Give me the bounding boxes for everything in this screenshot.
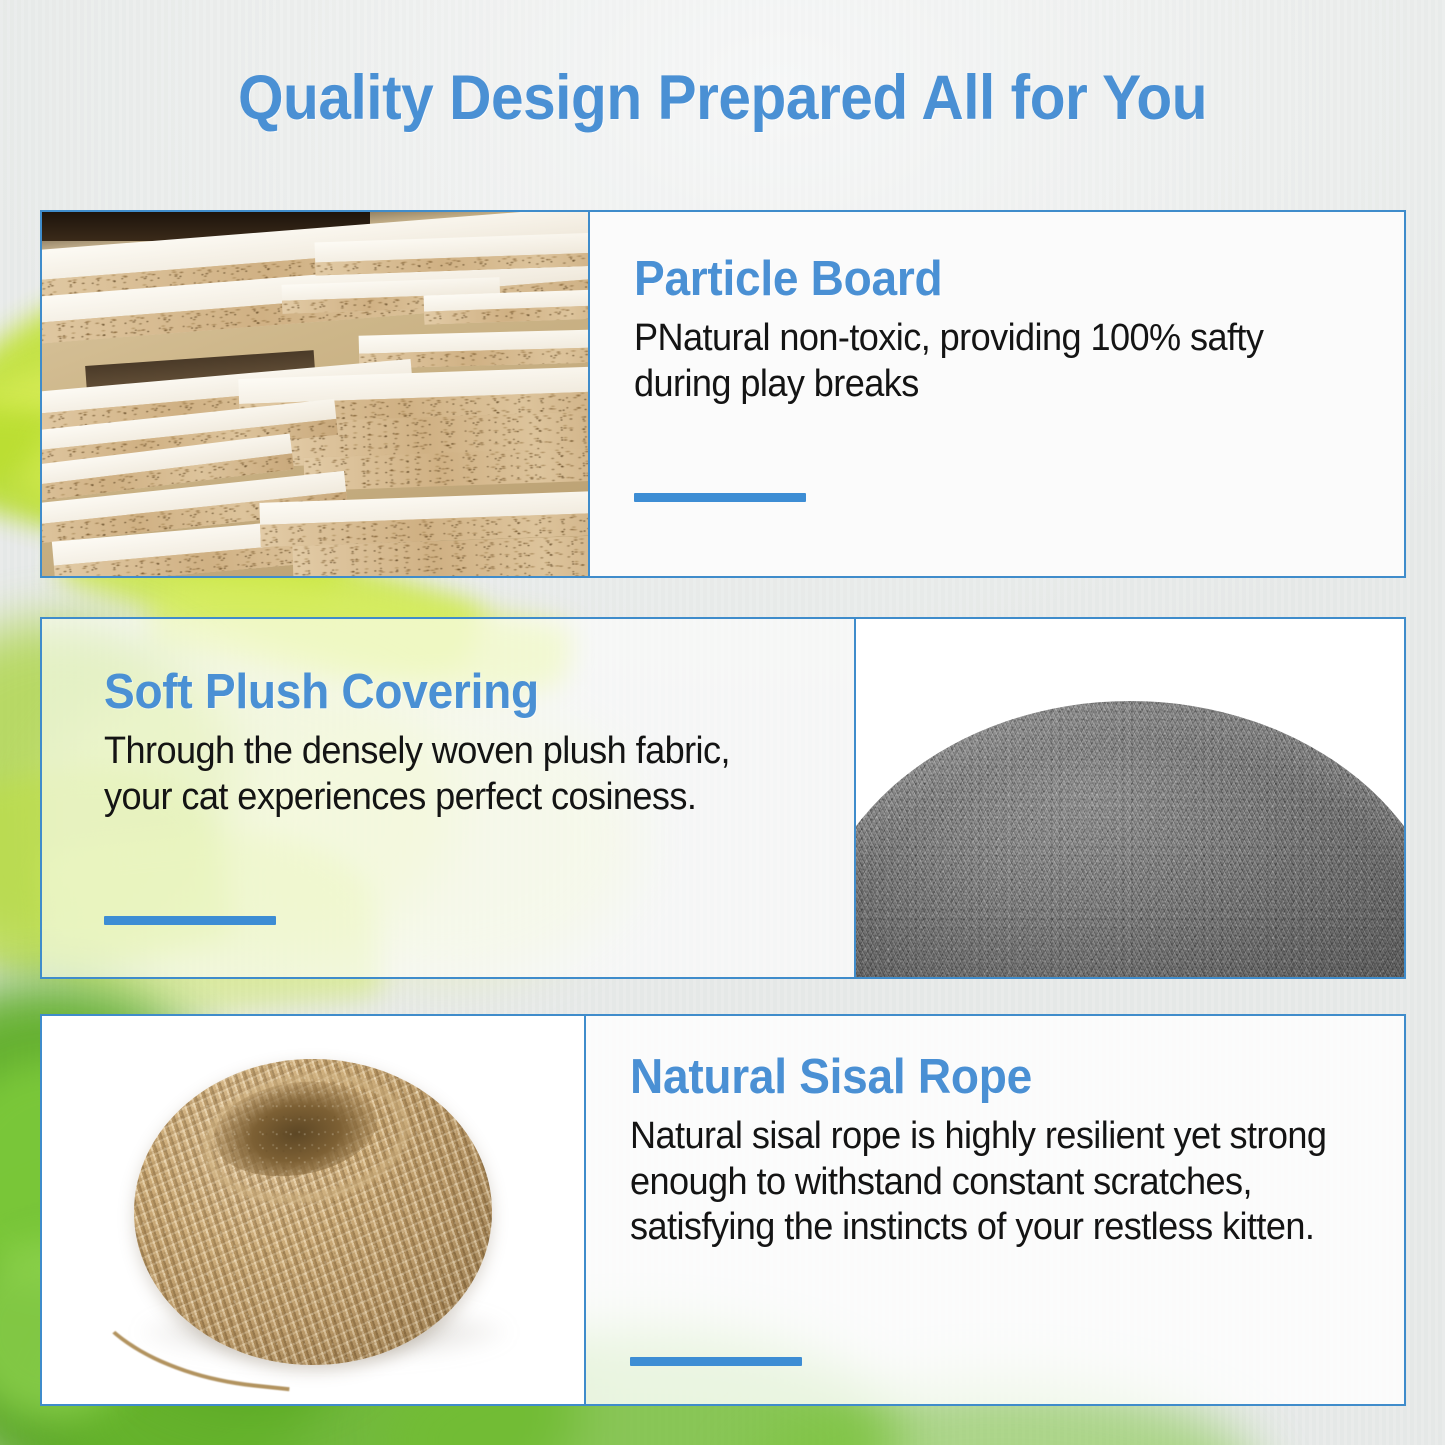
card-body-sisal-rope: Natural sisal rope is highly resilient y… <box>630 1114 1333 1251</box>
soft-plush-text-pane: Soft Plush Covering Through the densely … <box>42 619 856 977</box>
card-body-soft-plush: Through the densely woven plush fabric, … <box>104 729 784 820</box>
card-heading-particle-board: Particle Board <box>634 254 1326 306</box>
page-title: Quality Design Prepared All for You <box>51 62 1395 134</box>
feature-card-soft-plush-covering: Soft Plush Covering Through the densely … <box>40 617 1406 979</box>
particle-board-text-pane: Particle Board PNatural non-toxic, provi… <box>588 212 1404 576</box>
accent-underline-bar <box>630 1357 802 1366</box>
feature-card-particle-board: Particle Board PNatural non-toxic, provi… <box>40 210 1406 578</box>
card-heading-sisal-rope: Natural Sisal Rope <box>630 1052 1326 1104</box>
sisal-rope-text-pane: Natural Sisal Rope Natural sisal rope is… <box>584 1016 1404 1404</box>
infographic-stage: Quality Design Prepared All for You <box>0 0 1445 1445</box>
card-heading-soft-plush: Soft Plush Covering <box>104 667 777 719</box>
particle-board-photo <box>42 212 588 576</box>
card-body-particle-board: PNatural non-toxic, providing 100% safty… <box>634 316 1333 407</box>
accent-underline-bar <box>104 916 276 925</box>
feature-card-natural-sisal-rope: Natural Sisal Rope Natural sisal rope is… <box>40 1014 1406 1406</box>
plush-fabric-photo <box>856 619 1404 977</box>
accent-underline-bar <box>634 493 806 502</box>
sisal-rope-photo <box>42 1016 584 1404</box>
